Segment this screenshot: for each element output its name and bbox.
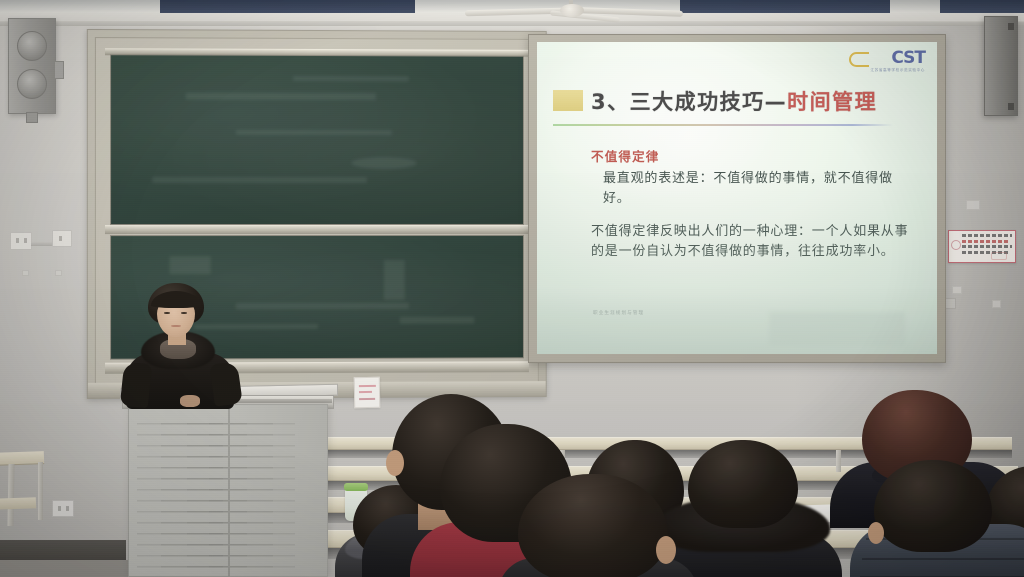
jacket-seam <box>862 558 1024 560</box>
slide-title-underline <box>553 124 893 126</box>
notice-line <box>359 391 372 393</box>
socket-slot <box>58 506 61 511</box>
projected-slide: CST 江苏省高等学校示范实验中心 3、三大成功技巧—时间管理 不值得定律 最直… <box>537 42 937 354</box>
wall-marking <box>992 300 1001 308</box>
wall-marking <box>22 270 29 276</box>
notice-line <box>359 385 376 387</box>
ceiling-fan <box>455 0 685 24</box>
title-bullet-chip <box>553 90 583 111</box>
student-ear <box>656 536 676 564</box>
wall-marking <box>952 286 962 294</box>
teacher-arm-left <box>120 362 152 409</box>
desk-leg <box>7 464 14 526</box>
podium-notice <box>354 377 381 408</box>
socket-slot <box>24 238 27 243</box>
speaker-fitting <box>1008 103 1014 110</box>
sign-text-line <box>962 245 1012 248</box>
slide-bottom-haze <box>537 292 937 354</box>
student-head <box>874 460 992 552</box>
student-head <box>518 474 668 577</box>
speaker-driver <box>17 69 47 99</box>
logo-subtitle: 江苏省高等学校示范实验中心 <box>847 68 925 73</box>
podium-vent-slots <box>209 423 295 571</box>
slide-heading: 不值得定律 <box>591 146 915 165</box>
slide-title-accent: 时间管理 <box>787 90 877 114</box>
notice-line <box>359 398 375 400</box>
fan-hub <box>560 4 584 17</box>
wall-socket <box>10 232 32 250</box>
sign-seal <box>951 240 961 250</box>
teacher-podium <box>128 404 328 577</box>
podium-door-seam <box>228 405 230 577</box>
ceiling-panel <box>680 0 890 13</box>
cst-logo: CST 江苏省高等学校示范实验中心 <box>847 50 925 80</box>
socket-slot <box>66 506 69 511</box>
classroom-floor <box>0 560 134 577</box>
teacher-at-podium <box>120 283 240 408</box>
slide-title: 3、三大成功技巧—时间管理 <box>591 86 877 116</box>
blackboard-upper-pane <box>110 54 524 225</box>
student-head <box>688 440 798 528</box>
slide-paragraph-2: 不值得定律反映出人们的一种心理：一个人如果从事的是一份自认为不值得做的事情，往往… <box>591 222 915 262</box>
paragraph-gap <box>591 209 915 222</box>
student-bushy-hair <box>512 474 680 577</box>
classroom-photograph: CST 江苏省高等学校示范实验中心 3、三大成功技巧—时间管理 不值得定律 最直… <box>0 0 1024 577</box>
wall-marking <box>966 200 980 210</box>
logo-mark-text: CST <box>847 50 925 67</box>
desk-left-shelf <box>0 497 36 510</box>
slide-paragraph-1: 最直观的表述是：不值得做的事情，就不值得做好。 <box>591 169 915 209</box>
ceiling-panel <box>940 0 1024 13</box>
wall-socket-lower <box>52 500 74 517</box>
slide-title-number: 3、 <box>591 90 630 114</box>
sign-stamp <box>991 252 1007 260</box>
speaker-bracket <box>54 61 64 79</box>
socket-slot <box>16 238 19 243</box>
safety-notice-sign <box>948 230 1016 263</box>
desk-leg <box>836 450 841 472</box>
speaker-fitting <box>1008 23 1014 30</box>
teacher-arm-right <box>209 361 243 406</box>
slide-title-row: 3、三大成功技巧—时间管理 <box>553 87 923 121</box>
projection-screen: CST 江苏省高等学校示范实验中心 3、三大成功技巧—时间管理 不值得定律 最直… <box>528 34 946 363</box>
student-ear <box>868 522 884 544</box>
blackboard-middle-rail <box>105 225 529 234</box>
student-grey-puffer <box>856 460 1024 577</box>
speaker-mount <box>26 112 38 123</box>
slide-title-main: 三大成功技巧— <box>630 90 788 114</box>
sign-text-line <box>962 240 1008 243</box>
switch-slot <box>59 236 62 241</box>
ceiling-panel <box>160 0 415 13</box>
desk-leg <box>38 462 43 520</box>
wall-marking <box>55 270 62 276</box>
wall-speaker-left <box>8 18 56 114</box>
wall-speaker-right <box>984 16 1018 116</box>
wall-switch <box>52 230 72 247</box>
student-ear <box>386 450 404 476</box>
sign-text-line <box>962 234 1012 237</box>
slide-body: 不值得定律 最直观的表述是：不值得做的事情，就不值得做好。 不值得定律反映出人们… <box>591 146 915 262</box>
teacher-hand <box>180 395 200 407</box>
speaker-driver <box>17 31 47 61</box>
